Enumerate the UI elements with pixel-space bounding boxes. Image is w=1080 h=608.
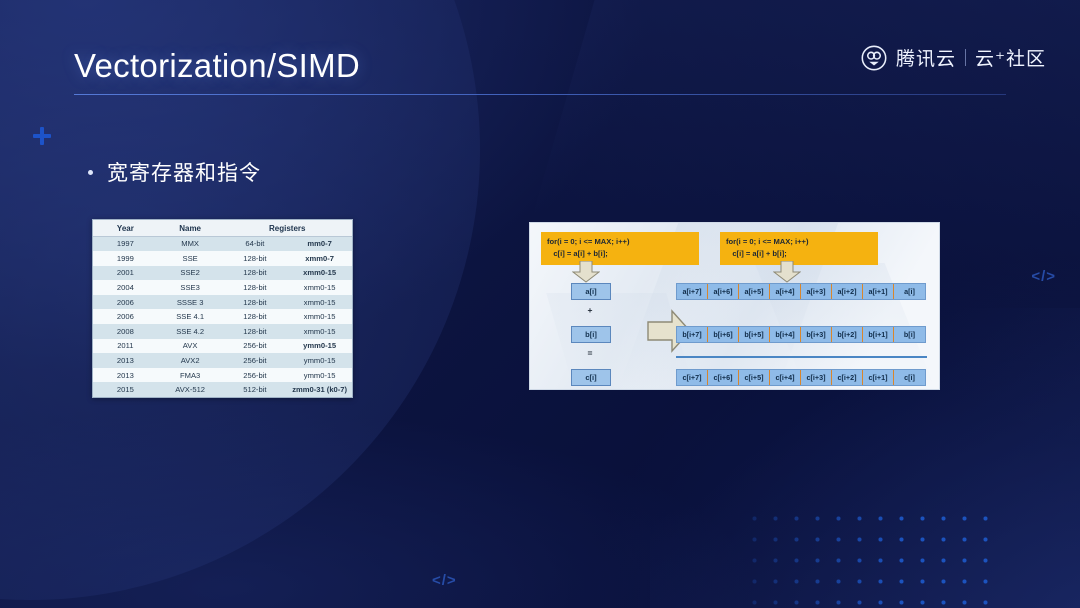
- vector-code-block: for(i = 0; i <= MAX; i++) c[i] = a[i] + …: [720, 232, 878, 265]
- vector-cell: c[i+3]: [801, 370, 832, 385]
- vector-cell: b[i+3]: [801, 327, 832, 342]
- vector-cell: b[i+1]: [863, 327, 894, 342]
- table-cell: SSE 4.2: [158, 324, 223, 339]
- table-cell: 2006: [93, 309, 158, 324]
- isa-table-card: Year Name Registers 1997MMX64-bitmm0-719…: [92, 219, 353, 398]
- scalar-operator-equals: =: [571, 348, 609, 358]
- table-cell: xmm0-15: [287, 280, 352, 295]
- vector-cell: a[i+7]: [677, 284, 708, 299]
- table-cell: mm0-7: [287, 236, 352, 251]
- table-cell: 128-bit: [223, 295, 288, 310]
- scalar-code-block: for(i = 0; i <= MAX; i++) c[i] = a[i] + …: [541, 232, 699, 265]
- table-cell: 2011: [93, 339, 158, 354]
- table-cell: 64-bit: [223, 236, 288, 251]
- vector-cell: b[i+6]: [708, 327, 739, 342]
- col-header-year: Year: [93, 220, 158, 236]
- scalar-operator-add: +: [571, 305, 609, 315]
- vector-cell: c[i+7]: [677, 370, 708, 385]
- table-cell: 2004: [93, 280, 158, 295]
- table-cell: 128-bit: [223, 280, 288, 295]
- background-glow-shape: [0, 408, 760, 608]
- table-cell: zmm0-31 (k0-7): [287, 382, 352, 397]
- isa-table-header-row: Year Name Registers: [93, 220, 352, 236]
- bullet-dot-icon: [88, 170, 93, 175]
- table-cell: 256-bit: [223, 368, 288, 383]
- table-row: 2011AVX256-bitymm0-15: [93, 339, 352, 354]
- code-brackets-icon-bottom: </>: [432, 572, 457, 589]
- vector-cell: b[i]: [894, 327, 925, 342]
- brand-separator: [965, 49, 966, 66]
- plus-icon: [33, 127, 51, 145]
- vector-cell: c[i+1]: [863, 370, 894, 385]
- brand-logo: 腾讯云 云⁺社区: [861, 44, 1046, 71]
- vector-cell: c[i+2]: [832, 370, 863, 385]
- table-cell: SSE: [158, 251, 223, 266]
- isa-table: Year Name Registers 1997MMX64-bitmm0-719…: [93, 220, 352, 397]
- table-cell: 256-bit: [223, 353, 288, 368]
- table-cell: xmm0-7: [287, 251, 352, 266]
- table-row: 2015AVX-512512-bitzmm0-31 (k0-7): [93, 382, 352, 397]
- isa-table-head: Year Name Registers: [93, 220, 352, 236]
- title-divider: [74, 94, 1006, 95]
- vector-cell: c[i]: [894, 370, 925, 385]
- table-cell: 256-bit: [223, 339, 288, 354]
- vector-cell: a[i+6]: [708, 284, 739, 299]
- table-cell: SSE 4.1: [158, 309, 223, 324]
- vector-cell: a[i+1]: [863, 284, 894, 299]
- vector-cell: c[i+5]: [739, 370, 770, 385]
- scalar-result-c: c[i]: [571, 369, 611, 386]
- vector-row-b: b[i+7]b[i+6]b[i+5]b[i+4]b[i+3]b[i+2]b[i+…: [676, 326, 926, 343]
- slide-canvas: </> </> Vectorization/SIMD 腾讯云 云⁺社区 宽寄存器…: [0, 0, 1080, 608]
- table-cell: 2006: [93, 295, 158, 310]
- table-cell: xmm0-15: [287, 266, 352, 281]
- table-cell: xmm0-15: [287, 309, 352, 324]
- down-arrow-icon-vector: [773, 261, 801, 283]
- vector-cell: b[i+2]: [832, 327, 863, 342]
- table-cell: 128-bit: [223, 324, 288, 339]
- table-row: 2001SSE2128-bitxmm0-15: [93, 266, 352, 281]
- table-cell: 2013: [93, 368, 158, 383]
- table-cell: 1999: [93, 251, 158, 266]
- tencent-cloud-icon: [861, 45, 887, 71]
- down-arrow-icon-scalar: [572, 261, 600, 283]
- table-cell: FMA3: [158, 368, 223, 383]
- table-cell: ymm0-15: [287, 368, 352, 383]
- table-cell: AVX2: [158, 353, 223, 368]
- table-row: 1997MMX64-bitmm0-7: [93, 236, 352, 251]
- col-header-name: Name: [158, 220, 223, 236]
- code-brackets-icon-right: </>: [1031, 268, 1056, 285]
- table-cell: SSE2: [158, 266, 223, 281]
- vector-cell: a[i+5]: [739, 284, 770, 299]
- vector-cell: a[i+3]: [801, 284, 832, 299]
- table-cell: 512-bit: [223, 382, 288, 397]
- brand-name: 腾讯云: [896, 44, 956, 71]
- vector-sum-rule: [676, 356, 927, 358]
- scalar-operand-a: a[i]: [571, 283, 611, 300]
- bullet-text: 宽寄存器和指令: [107, 157, 261, 187]
- table-cell: 2015: [93, 382, 158, 397]
- bullet-item: 宽寄存器和指令: [88, 157, 261, 187]
- page-title: Vectorization/SIMD: [74, 47, 360, 85]
- table-cell: 128-bit: [223, 251, 288, 266]
- table-row: 2006SSE 4.1128-bitxmm0-15: [93, 309, 352, 324]
- vector-cell: b[i+7]: [677, 327, 708, 342]
- scalar-operand-b: b[i]: [571, 326, 611, 343]
- dot-grid-icon: [744, 508, 994, 608]
- vector-cell: c[i+4]: [770, 370, 801, 385]
- table-row: 2008SSE 4.2128-bitxmm0-15: [93, 324, 352, 339]
- table-cell: ymm0-15: [287, 353, 352, 368]
- table-row: 2013FMA3256-bitymm0-15: [93, 368, 352, 383]
- vector-cell: b[i+5]: [739, 327, 770, 342]
- col-header-registers: Registers: [223, 220, 353, 236]
- table-row: 2013AVX2256-bitymm0-15: [93, 353, 352, 368]
- table-cell: 2001: [93, 266, 158, 281]
- table-row: 1999SSE128-bitxmm0-7: [93, 251, 352, 266]
- table-cell: AVX-512: [158, 382, 223, 397]
- isa-table-body: 1997MMX64-bitmm0-71999SSE128-bitxmm0-720…: [93, 236, 352, 397]
- table-cell: 2013: [93, 353, 158, 368]
- table-row: 2006SSSE 3128-bitxmm0-15: [93, 295, 352, 310]
- table-cell: AVX: [158, 339, 223, 354]
- table-cell: 1997: [93, 236, 158, 251]
- table-cell: 128-bit: [223, 309, 288, 324]
- table-cell: 2008: [93, 324, 158, 339]
- vector-row-c: c[i+7]c[i+6]c[i+5]c[i+4]c[i+3]c[i+2]c[i+…: [676, 369, 926, 386]
- table-cell: MMX: [158, 236, 223, 251]
- vector-cell: b[i+4]: [770, 327, 801, 342]
- table-cell: xmm0-15: [287, 295, 352, 310]
- brand-subtitle: 云⁺社区: [975, 44, 1046, 71]
- vector-row-a: a[i+7]a[i+6]a[i+5]a[i+4]a[i+3]a[i+2]a[i+…: [676, 283, 926, 300]
- vector-cell: a[i+4]: [770, 284, 801, 299]
- table-cell: SSE3: [158, 280, 223, 295]
- table-cell: xmm0-15: [287, 324, 352, 339]
- table-cell: SSSE 3: [158, 295, 223, 310]
- vector-cell: a[i]: [894, 284, 925, 299]
- table-cell: 128-bit: [223, 266, 288, 281]
- table-row: 2004SSE3128-bitxmm0-15: [93, 280, 352, 295]
- table-cell: ymm0-15: [287, 339, 352, 354]
- vector-cell: c[i+6]: [708, 370, 739, 385]
- simd-diagram: for(i = 0; i <= MAX; i++) c[i] = a[i] + …: [529, 222, 940, 390]
- vector-cell: a[i+2]: [832, 284, 863, 299]
